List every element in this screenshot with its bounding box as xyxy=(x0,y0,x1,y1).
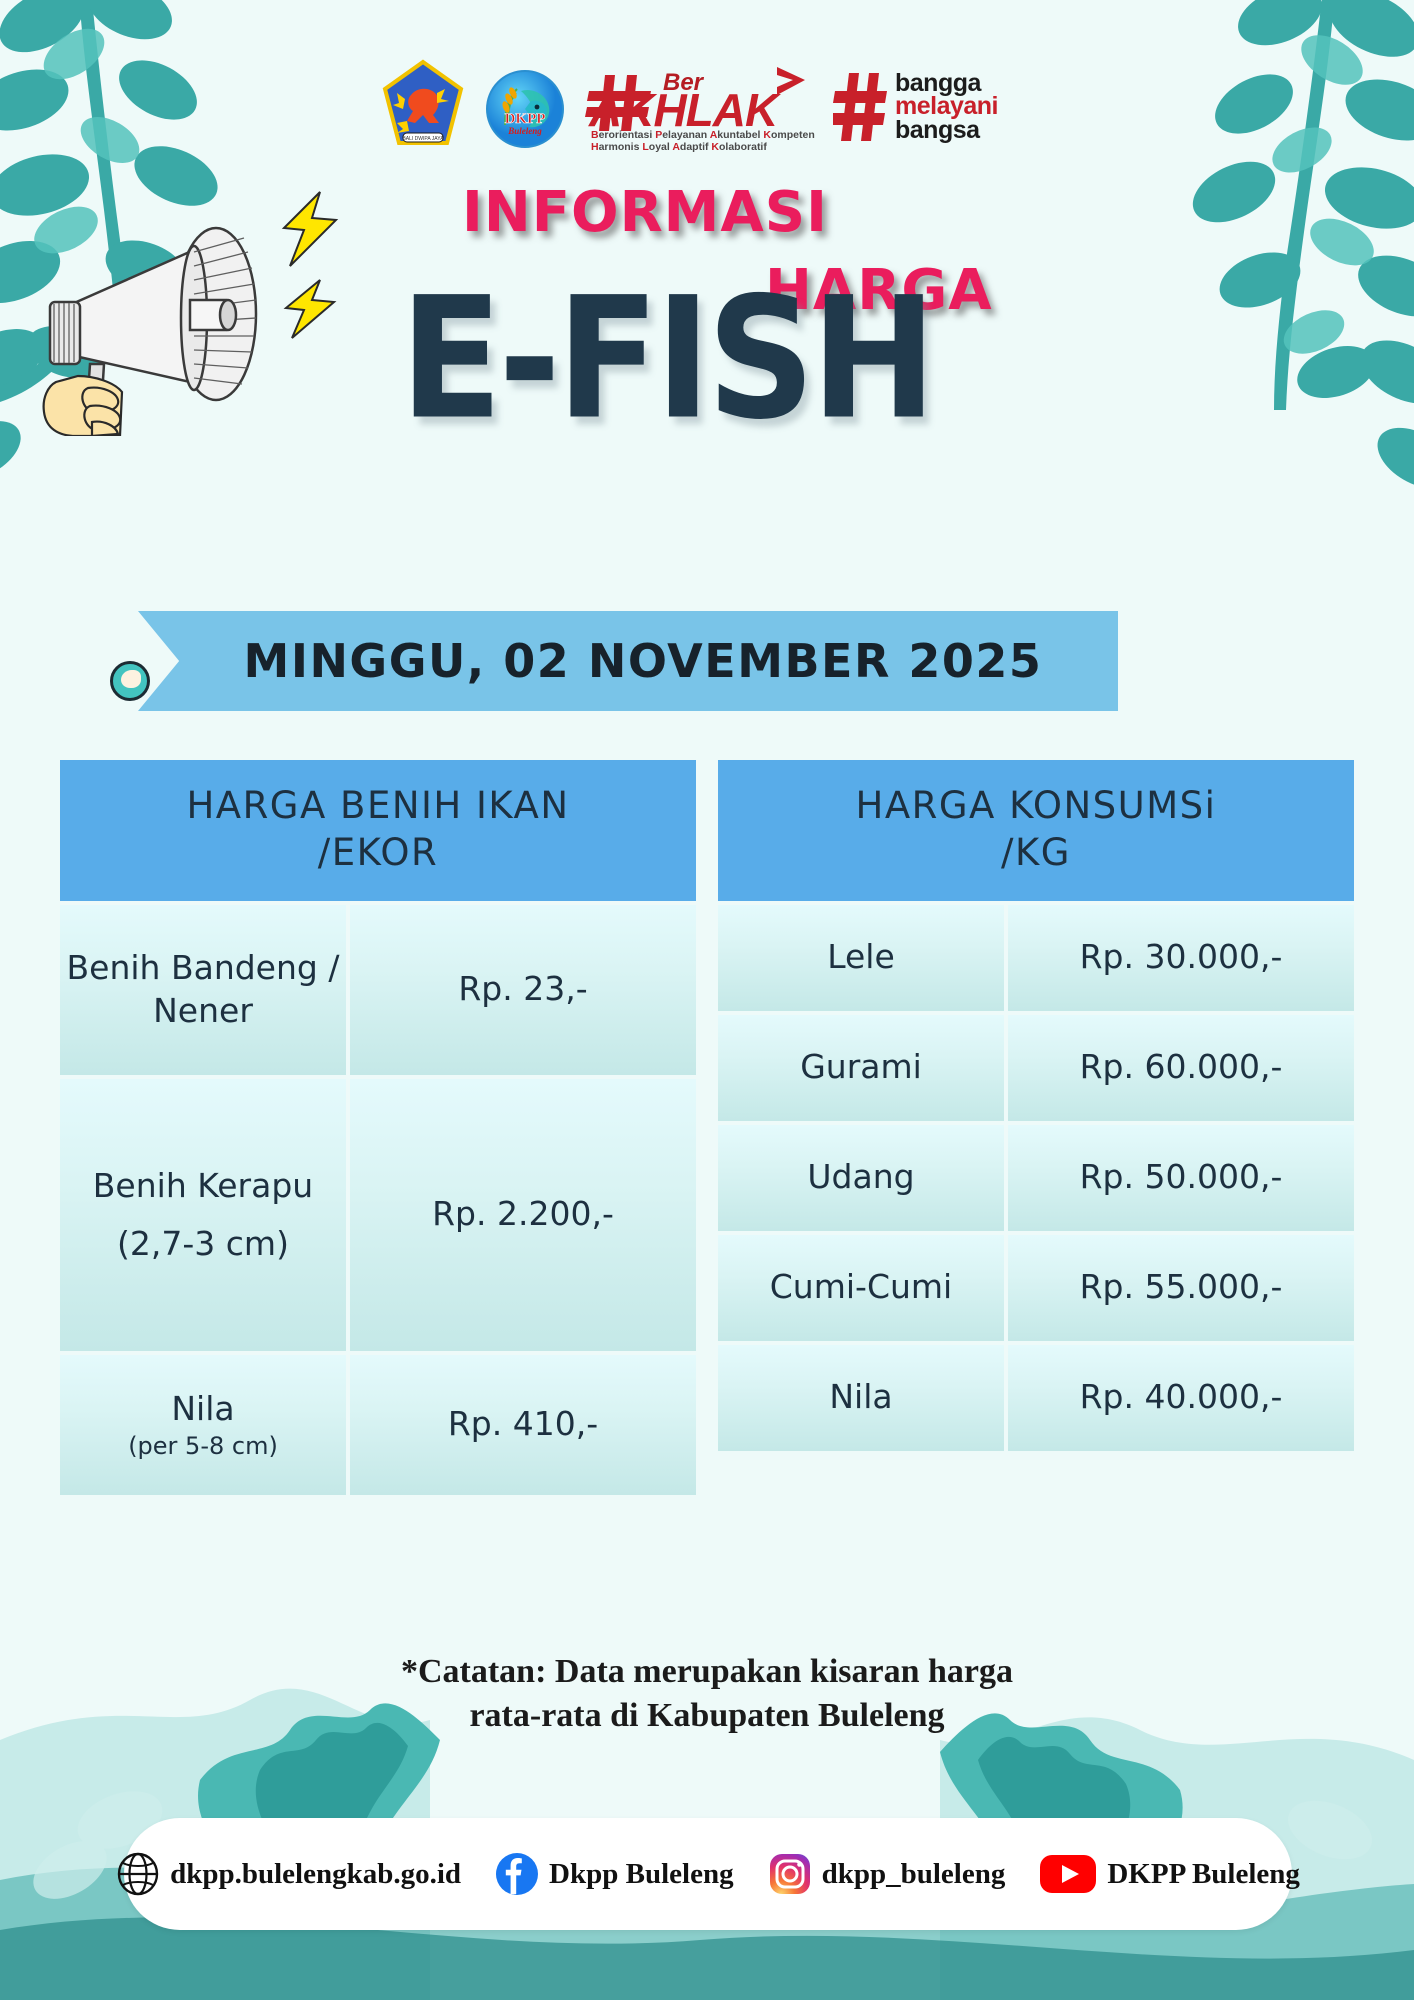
youtube-icon xyxy=(1039,1852,1097,1896)
logo-row: BALI DWIPA JAYA xyxy=(0,52,1414,162)
dkpp-buleleng-emblem-icon: DKPP Buleleng xyxy=(483,65,567,149)
table-row: Gurami Rp. 60.000,- xyxy=(718,1015,1354,1121)
svg-text:Buleleng: Buleleng xyxy=(507,126,542,136)
cell-price: Rp. 60.000,- xyxy=(1008,1015,1354,1121)
cell-commodity: Gurami xyxy=(718,1015,1004,1121)
berakhlak-logo: Ber AKHLAK Berorientasi Pelayanan Akunta… xyxy=(585,61,815,153)
table-row: Nila Rp. 40.000,- xyxy=(718,1345,1354,1451)
cell-price: Rp. 50.000,- xyxy=(1008,1125,1354,1231)
table-row: Benih Kerapu (2,7-3 cm) Rp. 2.200,- xyxy=(60,1079,696,1351)
cell-price: Rp. 30.000,- xyxy=(1008,905,1354,1011)
cell-commodity: Nila xyxy=(718,1345,1004,1451)
chevron-right-icon xyxy=(771,65,811,99)
contact-instagram[interactable]: dkpp_buleleng xyxy=(768,1852,1006,1896)
footnote-line2: rata-rata di Kabupaten Buleleng xyxy=(0,1694,1414,1738)
cell-commodity: Udang xyxy=(718,1125,1004,1231)
table-left-header: HARGA BENIH IKAN /EKOR xyxy=(60,760,696,901)
contact-youtube-label: DKPP Buleleng xyxy=(1107,1858,1300,1891)
bangga-hash-icon xyxy=(833,71,889,143)
cell-commodity: Benih Kerapu (2,7-3 cm) xyxy=(60,1079,346,1351)
cell-commodity: Cumi-Cumi xyxy=(718,1235,1004,1341)
table-right-title-line1: HARGA KONSUMSi xyxy=(728,782,1344,829)
headline-informasi: INFORMASI xyxy=(462,180,828,245)
table-row: Udang Rp. 50.000,- xyxy=(718,1125,1354,1231)
table-row: Lele Rp. 30.000,- xyxy=(718,905,1354,1011)
bangga-melayani-bangsa-logo: bangga melayani bangsa xyxy=(833,64,1033,150)
footnote: *Catatan: Data merupakan kisaran harga r… xyxy=(0,1650,1414,1737)
table-benih-ikan: HARGA BENIH IKAN /EKOR Benih Bandeng / N… xyxy=(60,760,696,1495)
contact-facebook[interactable]: Dkpp Buleleng xyxy=(495,1852,734,1896)
bali-province-emblem-icon: BALI DWIPA JAYA xyxy=(381,59,465,155)
table-right-header: HARGA KONSUMSi /KG xyxy=(718,760,1354,901)
globe-icon xyxy=(116,1852,160,1896)
price-tables: HARGA BENIH IKAN /EKOR Benih Bandeng / N… xyxy=(0,760,1414,1495)
bangga-line3: bangsa xyxy=(895,119,998,142)
headline-brand-efish: E-FISH xyxy=(400,262,933,457)
table-right-title-line2: /KG xyxy=(728,829,1344,876)
megaphone-icon xyxy=(0,186,324,436)
table-left-title-line1: HARGA BENIH IKAN xyxy=(70,782,686,829)
lightning-bolt-icon xyxy=(280,278,342,340)
date-banner: MINGGU, 02 NOVEMBER 2025 xyxy=(110,595,1120,715)
cell-commodity-name: Nila xyxy=(171,1388,234,1431)
contact-website[interactable]: dkpp.bulelengkab.go.id xyxy=(116,1852,461,1896)
cell-price: Rp. 40.000,- xyxy=(1008,1345,1354,1451)
cell-price: Rp. 55.000,- xyxy=(1008,1235,1354,1341)
cell-commodity: Lele xyxy=(718,905,1004,1011)
contact-facebook-label: Dkpp Buleleng xyxy=(549,1858,734,1891)
table-konsumsi: HARGA KONSUMSi /KG Lele Rp. 30.000,- Gur… xyxy=(718,760,1354,1495)
cell-commodity: Benih Bandeng / Nener xyxy=(60,905,346,1075)
table-left-title-line2: /EKOR xyxy=(70,829,686,876)
contact-instagram-label: dkpp_buleleng xyxy=(822,1858,1006,1891)
contact-footer-bar: dkpp.bulelengkab.go.id Dkpp Buleleng xyxy=(124,1818,1292,1930)
table-row: Cumi-Cumi Rp. 55.000,- xyxy=(718,1235,1354,1341)
poster-root: BALI DWIPA JAYA xyxy=(0,0,1414,2000)
footnote-line1: *Catatan: Data merupakan kisaran harga xyxy=(0,1650,1414,1694)
instagram-icon xyxy=(768,1852,812,1896)
cell-price: Rp. 23,- xyxy=(350,905,696,1075)
contact-youtube[interactable]: DKPP Buleleng xyxy=(1039,1852,1300,1896)
svg-text:BALI DWIPA JAYA: BALI DWIPA JAYA xyxy=(402,136,444,142)
akhlak-subtitle: Berorientasi Pelayanan Akuntabel Kompete… xyxy=(591,129,815,154)
lightning-bolt-icon xyxy=(278,190,344,268)
facebook-icon xyxy=(495,1852,539,1896)
banner-date-text: MINGGU, 02 NOVEMBER 2025 xyxy=(138,611,1118,711)
table-row: Benih Bandeng / Nener Rp. 23,- xyxy=(60,905,696,1075)
contact-website-label: dkpp.bulelengkab.go.id xyxy=(170,1858,461,1891)
svg-text:DKPP: DKPP xyxy=(505,111,546,127)
cell-price: Rp. 2.200,- xyxy=(350,1079,696,1351)
